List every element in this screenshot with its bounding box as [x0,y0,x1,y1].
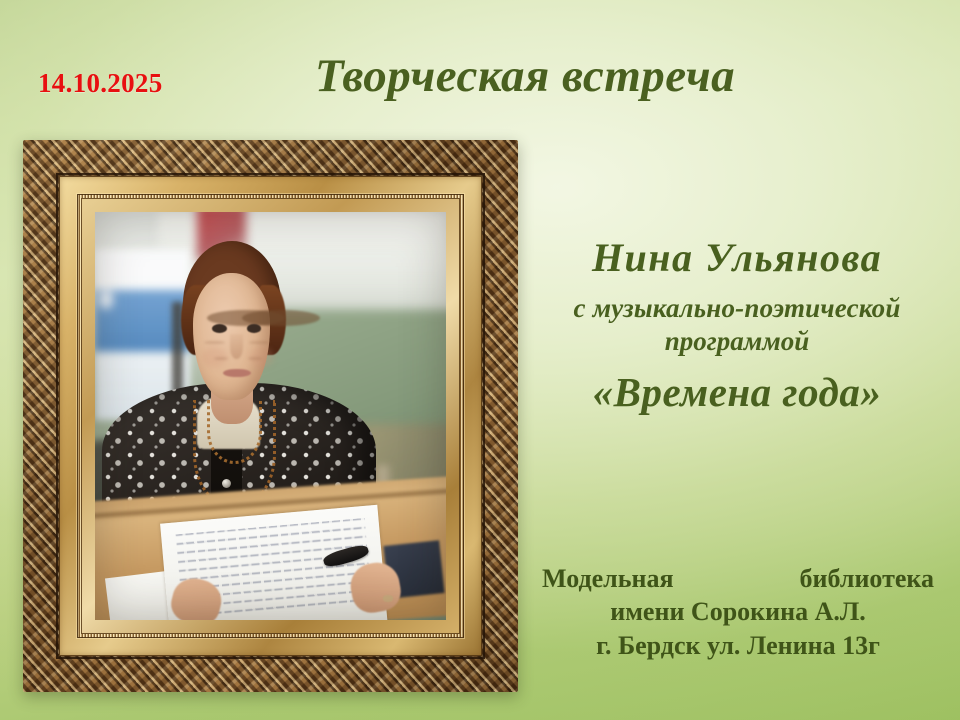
subject-face-line [248,357,262,360]
framed-photo [23,140,518,692]
subject-nose [230,334,243,358]
subject-ring [383,595,394,602]
venue-line-1: Модельная библиотека [528,562,948,595]
event-poster: 14.10.2025 13:00 Творческая встреча [0,0,960,720]
poster-headline: Творческая встреча [215,52,835,101]
subject-eye-right [247,324,262,333]
portrait-photograph [95,212,446,620]
venue-line-2: имени Сорокина А.Л. [528,595,948,628]
subject-face-line [204,341,225,345]
program-block: Нина Ульянова с музыкально-поэтической п… [528,236,946,415]
venue-block: Модельная библиотека имени Сорокина А.Л.… [528,562,948,662]
subject-mouth [223,369,251,378]
program-description-line-2: программой [528,325,946,358]
subject-beaded-necklace-inner [207,400,262,464]
performer-name: Нина Ульянова [528,236,946,280]
venue-name-word-1: Модельная [542,562,674,595]
program-description-line-1: с музыкально-поэтической [528,292,946,325]
event-date: 14.10.2025 [38,67,163,100]
venue-name-word-2: библиотека [800,562,934,595]
subject-eye-left [212,324,227,333]
venue-address: г. Бердск ул. Ленина 13г [528,629,948,662]
program-title: «Времена года» [528,370,946,415]
